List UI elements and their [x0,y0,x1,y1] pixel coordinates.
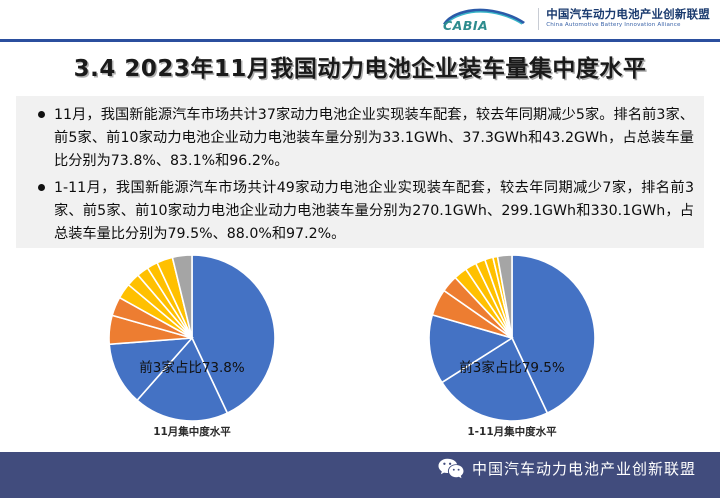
pie-chart-jan-nov [424,252,600,424]
org-name-en: China Automotive Battery Innovation Alli… [546,23,710,29]
bullet-item: 11月，我国新能源汽车市场共计37家动力电池企业实现装车配套，较去年同期减少5家… [26,104,694,173]
page-title: 3.4 2023年11月我国动力电池企业装车量集中度水平 [74,49,647,83]
org-name-cn: 中国汽车动力电池产业创新联盟 [546,9,710,21]
footer-brand: 中国汽车动力电池产业创新联盟 [438,458,696,479]
chart-caption: 1-11月集中度水平 [362,424,662,439]
cabia-logo-icon: CABIA [435,5,531,33]
bullet-item: 1-11月，我国新能源汽车市场共计49家动力电池企业实现装车配套，较去年同期减少… [26,177,694,246]
header-rule [0,39,720,42]
logo-text-block: 中国汽车动力电池产业创新联盟 China Automotive Battery … [546,9,710,28]
svg-text:CABIA: CABIA [443,18,488,33]
header-logo: CABIA 中国汽车动力电池产业创新联盟 China Automotive Ba… [435,5,710,33]
pie-chart-nov [104,252,280,424]
bullet-text: 11月，我国新能源汽车市场共计37家动力电池企业实现装车配套，较去年同期减少5家… [54,104,694,173]
bullet-text: 1-11月，我国新能源汽车市场共计49家动力电池企业实现装车配套，较去年同期减少… [54,177,694,246]
pie-wrap [42,252,342,424]
footer-text: 中国汽车动力电池产业创新联盟 [472,458,696,479]
chart-jan-nov-concentration: 前3家占比79.5% 1-11月集中度水平 [362,252,662,450]
page-footer: 中国汽车动力电池产业创新联盟 [0,452,720,498]
title-bar: 3.4 2023年11月我国动力电池企业装车量集中度水平 [0,46,720,86]
summary-text-panel: 11月，我国新能源汽车市场共计37家动力电池企业实现装车配套，较去年同期减少5家… [16,96,704,248]
chart-caption: 11月集中度水平 [42,424,342,439]
bullet-dot-icon [38,111,45,118]
wechat-icon [438,458,464,479]
page-header: CABIA 中国汽车动力电池产业创新联盟 China Automotive Ba… [0,0,720,41]
pie-wrap [362,252,662,424]
charts-area: 前3家占比73.8% 11月集中度水平 前3家占比79.5% 1-11月集中度水… [0,252,720,450]
chart-nov-concentration: 前3家占比73.8% 11月集中度水平 [42,252,342,450]
logo-divider [538,8,539,30]
bullet-dot-icon [38,184,45,191]
